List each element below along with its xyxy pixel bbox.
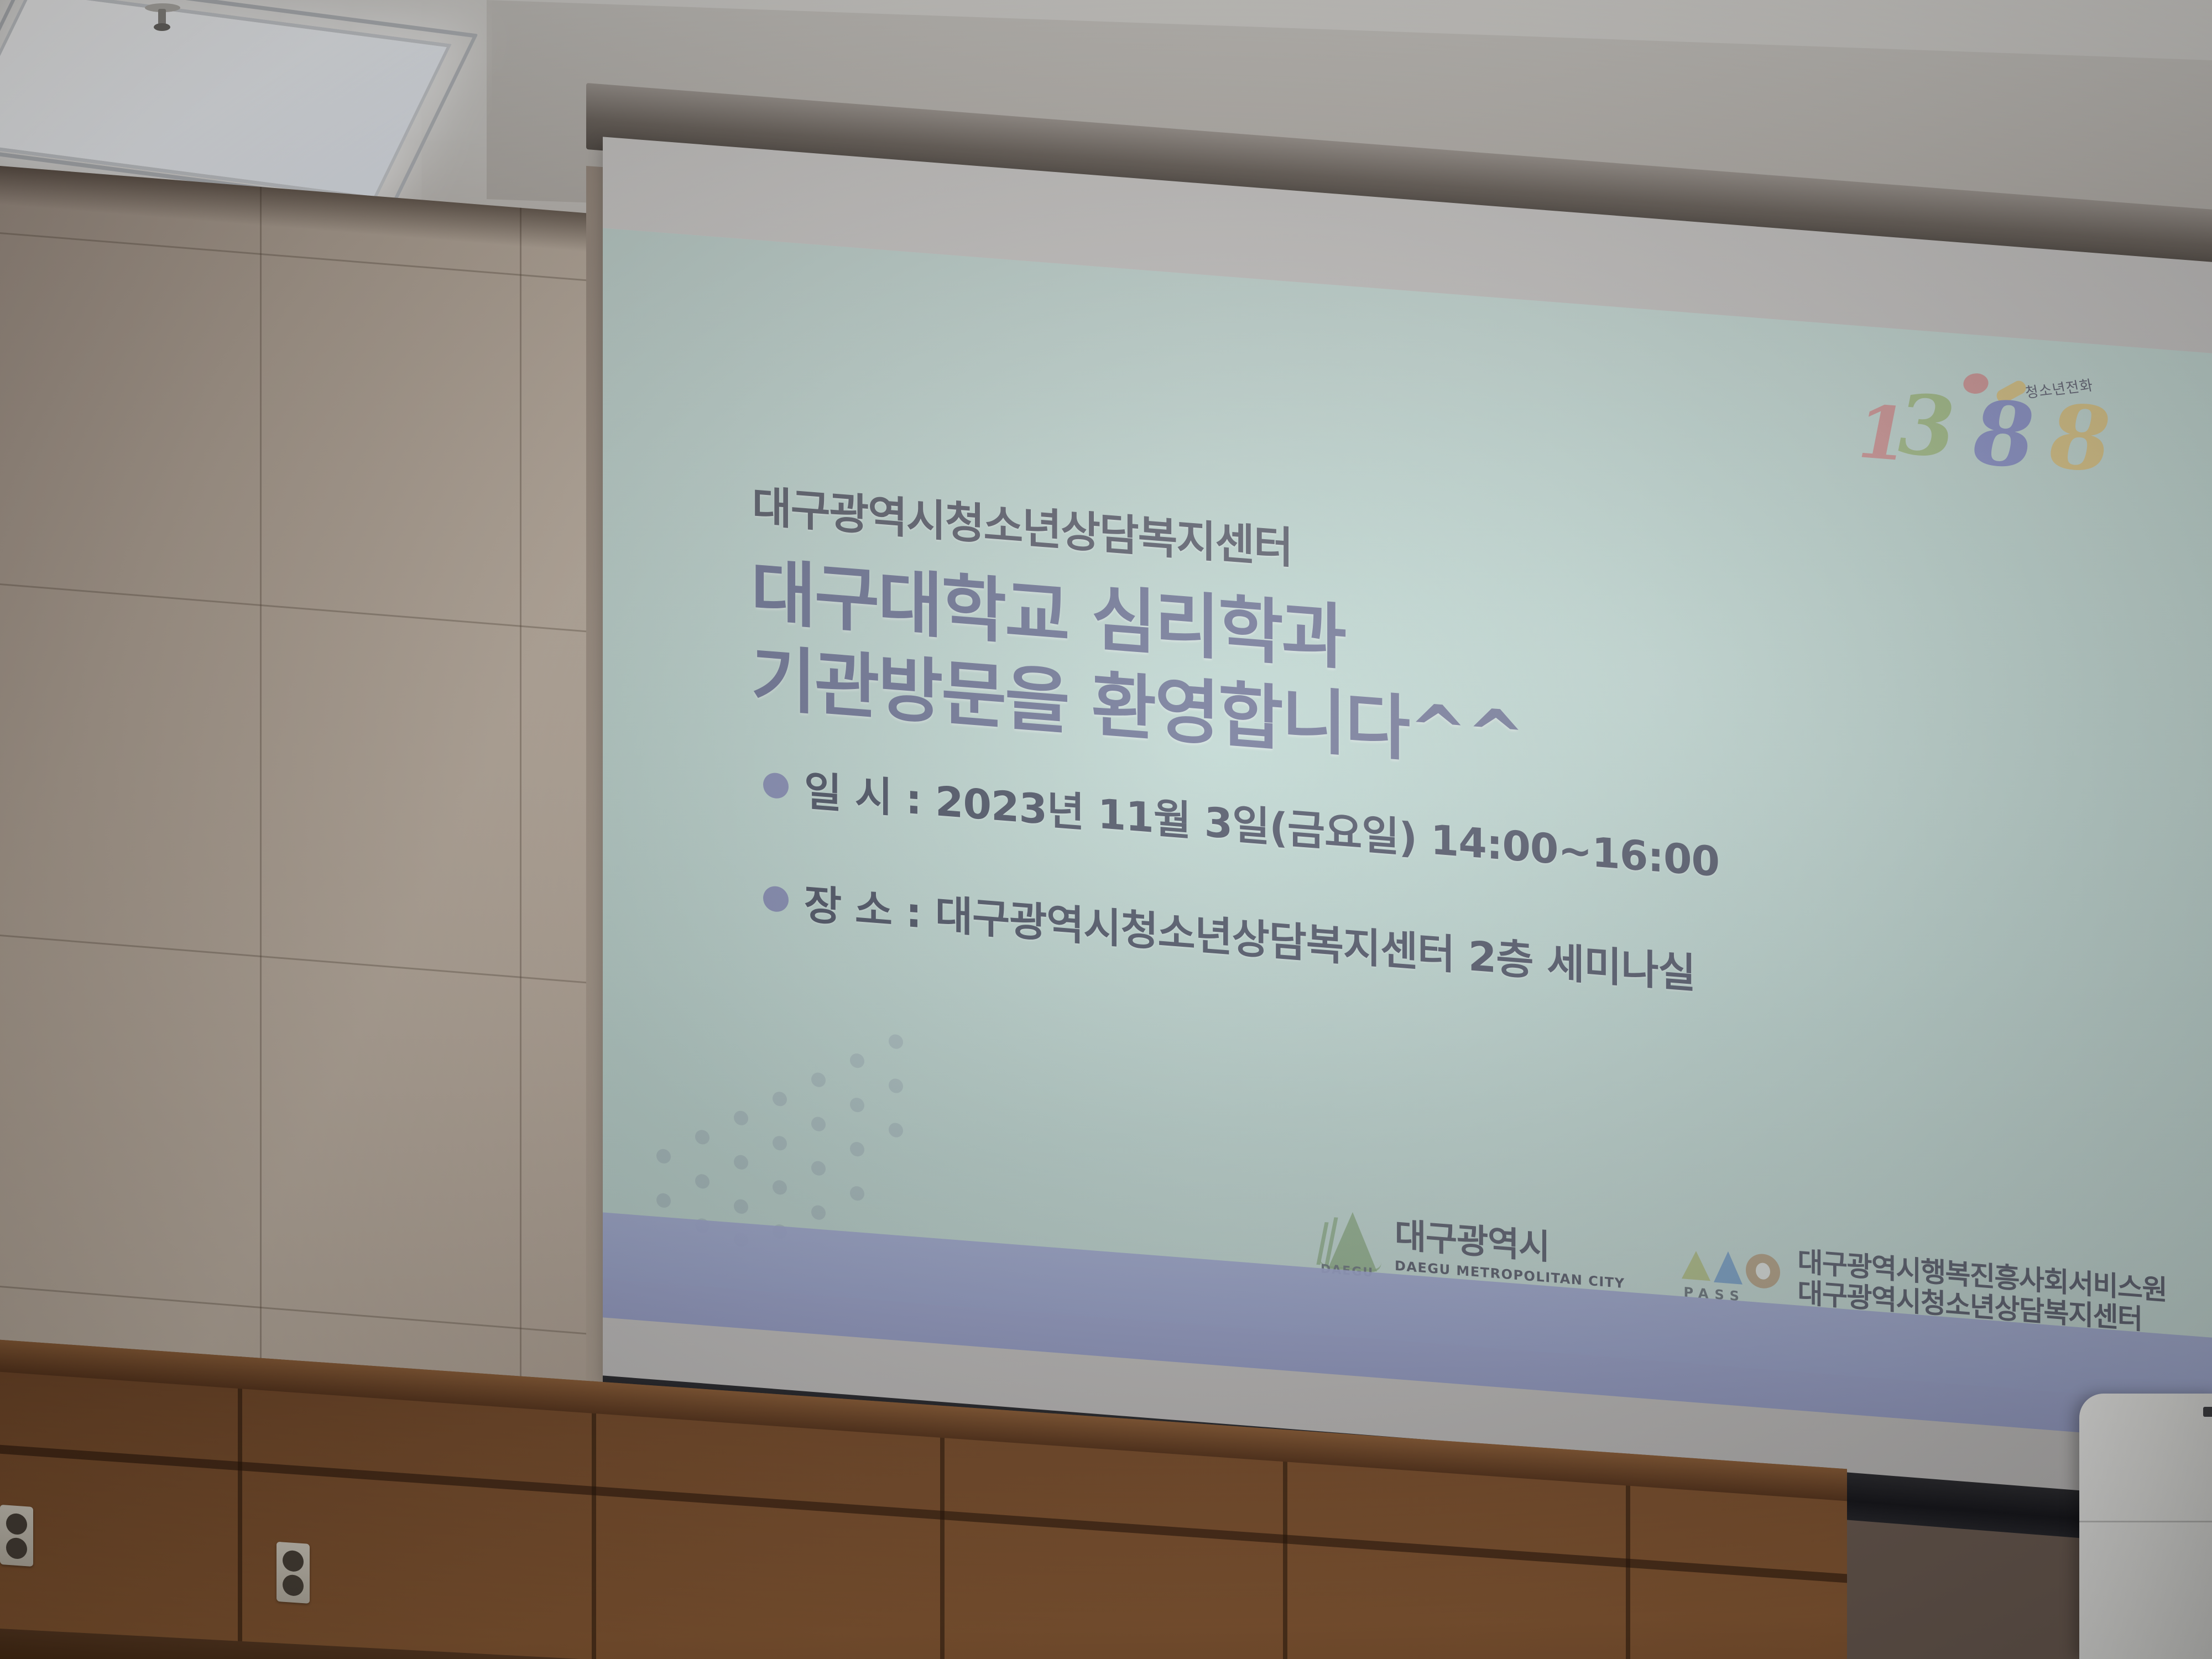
- daegu-mountain-icon: DAEGU: [1316, 1207, 1385, 1278]
- left-acoustic-wall: [0, 166, 630, 1544]
- pass-circle-icon: [1746, 1253, 1780, 1290]
- bullet-dot-icon: [763, 885, 789, 912]
- bullet-location-text: 장 소 : 대구광역시청소년상담복지센터 2층 세미나실: [804, 872, 1695, 1000]
- logo-1388-digit-8-first: 8: [1973, 380, 2034, 489]
- bullet-dot-icon: [763, 771, 789, 799]
- unit-tab-icon: [2203, 1407, 2212, 1417]
- presentation-slide: 청소년전화 1 3 8 8 대구광역시청소년상담복지센터 대구대학교 심리학과 …: [603, 228, 2212, 1405]
- bullet-date-text: 일 시 : 2023년 11월 3일(금요일) 14:00~16:00: [804, 758, 1719, 889]
- slide-title: 대구대학교 심리학과 기관방문을 환영합니다^^: [751, 549, 1524, 782]
- logo-1388: 청소년전화 1 3 8 8: [1847, 351, 2157, 497]
- sprinkler-head-icon: [145, 3, 180, 32]
- white-equipment-unit: [2079, 1394, 2212, 1659]
- screenshot-root: 청소년전화 1 3 8 8 대구광역시청소년상담복지센터 대구대학교 심리학과 …: [0, 0, 2212, 1659]
- pass-chevron-blue-icon: [1714, 1250, 1743, 1285]
- list-item: 장 소 : 대구광역시청소년상담복지센터 2층 세미나실: [763, 868, 1719, 1002]
- projection-screen: 청소년전화 1 3 8 8 대구광역시청소년상담복지센터 대구대학교 심리학과 …: [586, 83, 2212, 1548]
- logo-1388-digit-8-second: 8: [2049, 384, 2111, 493]
- logo-1388-digit-3: 3: [1898, 375, 1955, 477]
- list-item: 일 시 : 2023년 11월 3일(금요일) 14:00~16:00: [763, 755, 1719, 889]
- pass-chevron-green-icon: [1682, 1250, 1710, 1281]
- power-outlet: [276, 1542, 310, 1604]
- power-outlet: [0, 1505, 33, 1567]
